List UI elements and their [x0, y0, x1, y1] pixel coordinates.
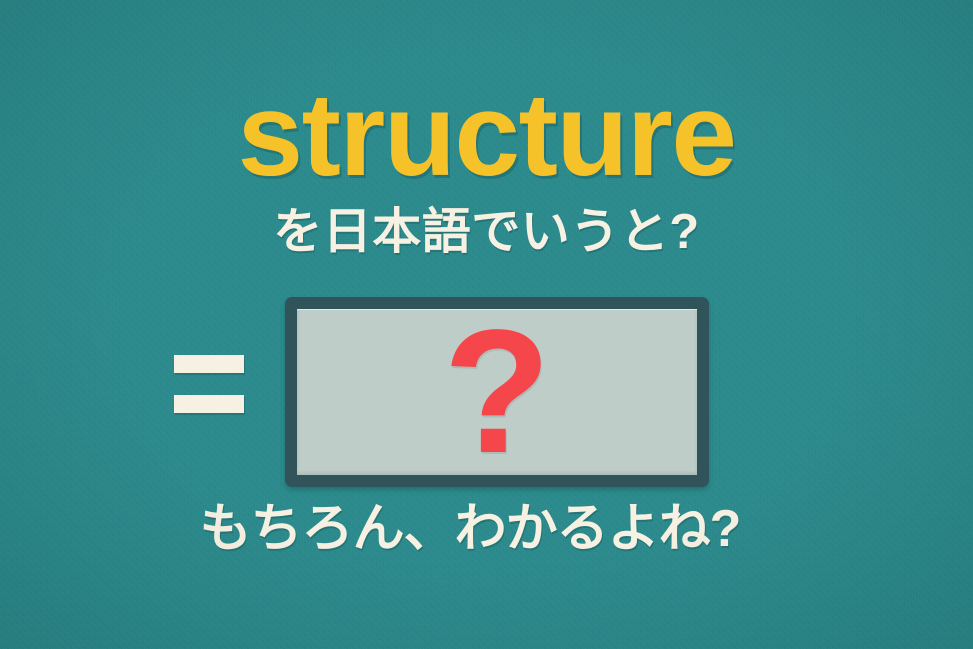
- answer-box-frame: ?: [285, 297, 709, 487]
- equals-bar-bottom: [174, 395, 244, 413]
- answer-row: ?: [0, 297, 973, 489]
- equals-icon: [174, 355, 244, 413]
- subtitle-question: を日本語でいうと?: [0, 208, 973, 257]
- page-title: structure: [0, 76, 973, 194]
- slide-canvas: structure を日本語でいうと? ? もちろん、わかるよね?: [0, 0, 973, 649]
- equals-bar-top: [174, 355, 244, 373]
- footer-prompt: もちろん、わかるよね?: [0, 503, 940, 555]
- answer-box-panel: ?: [297, 309, 697, 475]
- question-mark-icon: ?: [297, 309, 697, 475]
